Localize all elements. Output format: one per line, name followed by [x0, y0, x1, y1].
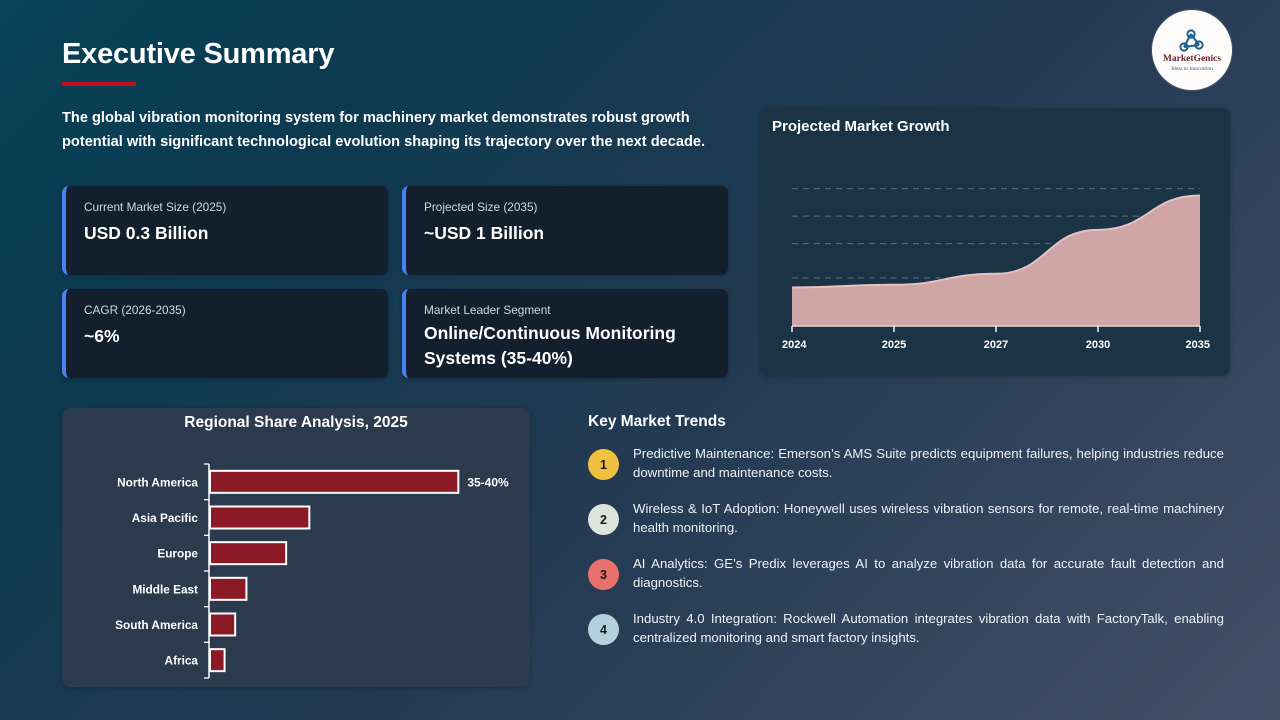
stat-card-current-market-size: Current Market Size (2025) USD 0.3 Billi…	[62, 186, 388, 275]
trend-description: Industry 4.0 Integration: Rockwell Autom…	[633, 609, 1224, 647]
regional-share-panel: Regional Share Analysis, 2025 North Amer…	[62, 408, 530, 687]
logo-tagline: Ideas to Innovation	[1171, 66, 1213, 72]
trend-number-badge: 3	[588, 559, 619, 590]
svg-text:2024: 2024	[782, 339, 807, 351]
svg-text:2027: 2027	[984, 339, 1008, 351]
svg-text:35-40%: 35-40%	[467, 475, 509, 489]
growth-x-tick-labels: 20242025202720302035	[782, 339, 1210, 351]
region-category-labels: North AmericaAsia PacificEuropeMiddle Ea…	[115, 475, 198, 667]
trends-section-title: Key Market Trends	[588, 413, 726, 431]
trend-item: 4Industry 4.0 Integration: Rockwell Auto…	[588, 609, 1224, 647]
stat-label: CAGR (2026-2035)	[84, 303, 370, 317]
trend-description: Predictive Maintenance: Emerson’s AMS Su…	[633, 444, 1224, 482]
svg-text:2025: 2025	[882, 339, 906, 351]
region-bar-group	[210, 471, 458, 671]
svg-text:North America: North America	[117, 475, 198, 489]
svg-text:Middle East: Middle East	[132, 582, 198, 596]
trend-number-badge: 4	[588, 614, 619, 645]
title-accent-rule	[62, 82, 136, 86]
svg-text:Europe: Europe	[157, 547, 198, 561]
growth-x-ticks	[792, 326, 1200, 332]
growth-area-fill	[792, 195, 1200, 326]
projected-market-growth-panel: Projected Market Growth 2024202520272030…	[760, 108, 1230, 376]
region-value-labels: 35-40%	[467, 475, 509, 489]
stat-value: Online/Continuous Monitoring Systems (35…	[424, 321, 710, 371]
trend-item: 2Wireless & IoT Adoption: Honeywell uses…	[588, 499, 1224, 537]
trends-list: 1Predictive Maintenance: Emerson’s AMS S…	[588, 444, 1224, 664]
stat-label: Current Market Size (2025)	[84, 200, 370, 214]
trend-item: 3AI Analytics: GE’s Predix leverages AI …	[588, 554, 1224, 592]
svg-text:2030: 2030	[1086, 339, 1110, 351]
trend-description: AI Analytics: GE’s Predix leverages AI t…	[633, 554, 1224, 592]
stat-card-projected-size: Projected Size (2035) ~USD 1 Billion	[402, 186, 728, 275]
svg-text:Asia Pacific: Asia Pacific	[132, 511, 199, 525]
svg-text:2035: 2035	[1186, 339, 1210, 351]
stat-card-cagr: CAGR (2026-2035) ~6%	[62, 289, 388, 378]
growth-chart-title: Projected Market Growth	[772, 118, 950, 135]
region-chart-title: Regional Share Analysis, 2025	[62, 414, 530, 432]
regional-share-chart: North AmericaAsia PacificEuropeMiddle Ea…	[62, 446, 530, 684]
brand-logo: MarketGenics Ideas to Innovation	[1152, 10, 1232, 90]
intro-paragraph: The global vibration monitoring system f…	[62, 106, 710, 154]
stat-value: ~USD 1 Billion	[424, 221, 710, 246]
logo-name: MarketGenics	[1163, 55, 1221, 65]
stat-label: Projected Size (2035)	[424, 200, 710, 214]
network-node-icon	[1177, 28, 1207, 54]
projected-market-growth-chart: 20242025202720302035	[760, 144, 1230, 376]
trend-number-badge: 1	[588, 449, 619, 480]
trend-item: 1Predictive Maintenance: Emerson’s AMS S…	[588, 444, 1224, 482]
stat-label: Market Leader Segment	[424, 303, 710, 317]
page-title: Executive Summary	[62, 38, 334, 71]
trend-number-badge: 2	[588, 504, 619, 535]
stat-value: USD 0.3 Billion	[84, 221, 370, 246]
stat-value: ~6%	[84, 324, 370, 349]
stat-card-market-leader-segment: Market Leader Segment Online/Continuous …	[402, 289, 728, 378]
svg-text:South America: South America	[115, 618, 198, 632]
trend-description: Wireless & IoT Adoption: Honeywell uses …	[633, 499, 1224, 537]
svg-text:Africa: Africa	[165, 654, 199, 668]
